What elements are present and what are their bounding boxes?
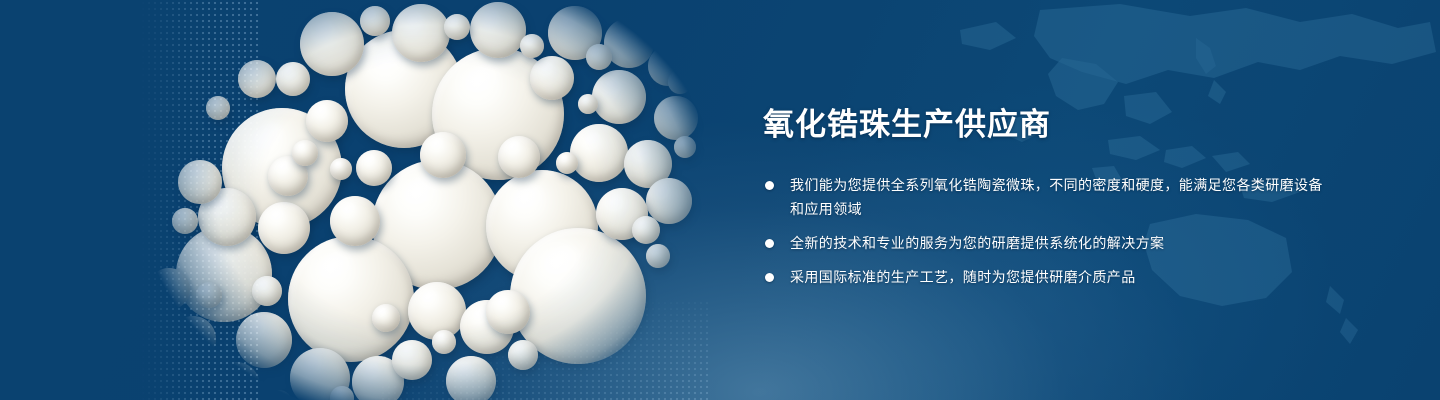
bullet-dot-icon: [765, 273, 774, 282]
hero-banner: 氧化锆珠生产供应商 我们能为您提供全系列氧化锆陶瓷微珠，不同的密度和硬度，能满足…: [0, 0, 1440, 400]
bullet-text: 我们能为您提供全系列氧化锆陶瓷微珠，不同的密度和硬度，能满足您各类研磨设备和应用…: [790, 177, 1323, 217]
banner-copy: 氧化锆珠生产供应商 我们能为您提供全系列氧化锆陶瓷微珠，不同的密度和硬度，能满足…: [763, 106, 1323, 289]
list-item: 我们能为您提供全系列氧化锆陶瓷微珠，不同的密度和硬度，能满足您各类研磨设备和应用…: [763, 173, 1323, 221]
list-item: 全新的技术和专业的服务为您的研磨提供系统化的解决方案: [763, 231, 1323, 255]
list-item: 采用国际标准的生产工艺，随时为您提供研磨介质产品: [763, 265, 1323, 289]
banner-bullet-list: 我们能为您提供全系列氧化锆陶瓷微珠，不同的密度和硬度，能满足您各类研磨设备和应用…: [763, 173, 1323, 289]
bullet-dot-icon: [765, 181, 774, 190]
bullet-text: 采用国际标准的生产工艺，随时为您提供研磨介质产品: [790, 269, 1136, 285]
bullet-dot-icon: [765, 239, 774, 248]
bullet-text: 全新的技术和专业的服务为您的研磨提供系统化的解决方案: [790, 235, 1164, 251]
banner-title: 氧化锆珠生产供应商: [763, 106, 1323, 145]
